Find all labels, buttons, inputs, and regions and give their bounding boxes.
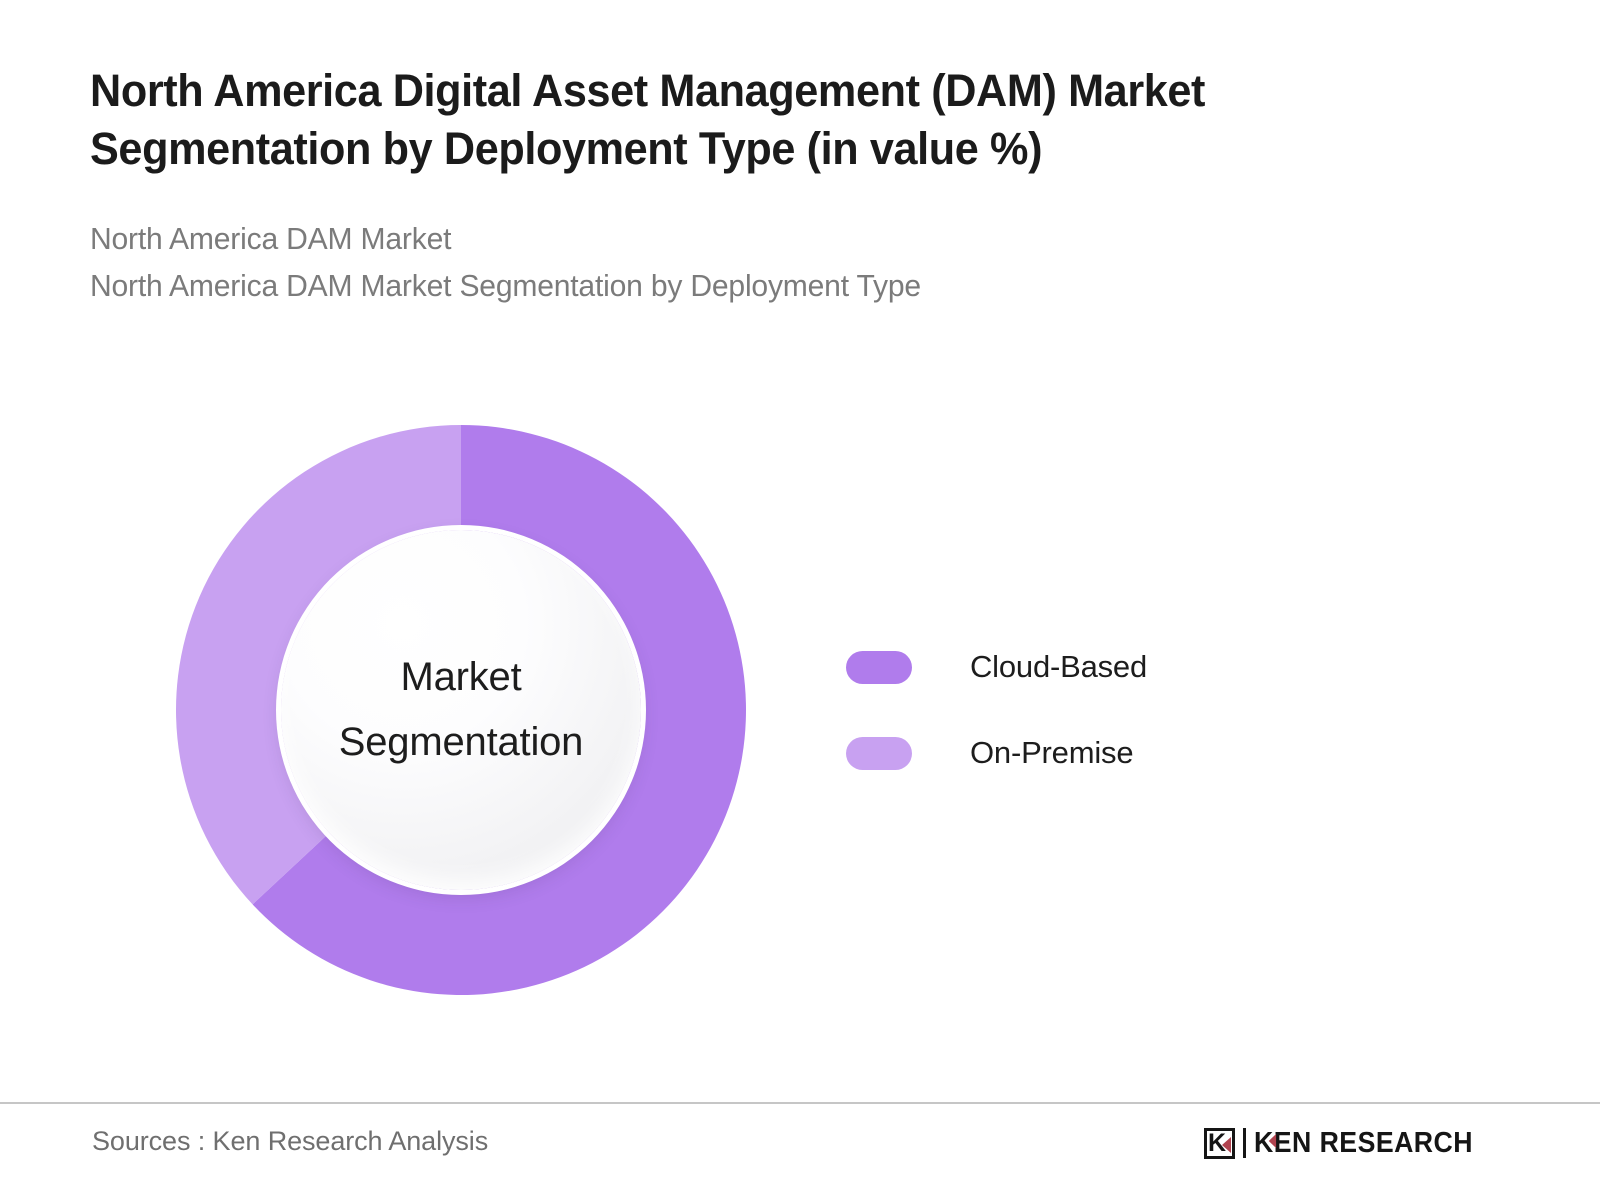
legend-label-on-premise: On-Premise (970, 735, 1133, 771)
legend-item-on-premise[interactable]: On-Premise (846, 731, 1147, 775)
donut-center-line-1: Market (339, 645, 583, 710)
sources-text: Sources : Ken Research Analysis (92, 1126, 488, 1157)
brand-separator-bar (1243, 1128, 1246, 1158)
header: North America Digital Asset Management (… (90, 62, 1510, 309)
legend-swatch-on-premise-icon (846, 737, 912, 770)
brand-wordmark-triangle-icon (1269, 1134, 1276, 1148)
donut-center-text: Market Segmentation (339, 645, 583, 775)
brand-triangle-icon (1222, 1137, 1231, 1153)
chart-legend: Cloud-Based On-Premise (846, 645, 1147, 775)
ken-research-k-mark-icon: K (1204, 1128, 1235, 1159)
donut-center-hub: Market Segmentation (281, 530, 641, 890)
legend-swatch-cloud-based-icon (846, 651, 912, 684)
subtitle-line-2: North America DAM Market Segmentation by… (90, 262, 1467, 309)
donut-chart: Market Segmentation (176, 425, 746, 995)
subtitle-block: North America DAM Market North America D… (90, 215, 1467, 309)
legend-item-cloud-based[interactable]: Cloud-Based (846, 645, 1147, 689)
subtitle-line-1: North America DAM Market (90, 215, 1467, 262)
footer: Sources : Ken Research Analysis K KEN RE… (0, 1104, 1600, 1200)
slide-canvas: North America Digital Asset Management (… (0, 0, 1600, 1200)
donut-center-line-2: Segmentation (339, 710, 583, 775)
brand-wordmark-text: KEN RESEARCH (1254, 1127, 1473, 1159)
page-title: North America Digital Asset Management (… (90, 62, 1453, 177)
ken-research-logo: K KEN RESEARCH (1204, 1126, 1492, 1160)
brand-wordmark: KEN RESEARCH (1254, 1127, 1473, 1160)
legend-label-cloud-based: Cloud-Based (970, 649, 1147, 685)
